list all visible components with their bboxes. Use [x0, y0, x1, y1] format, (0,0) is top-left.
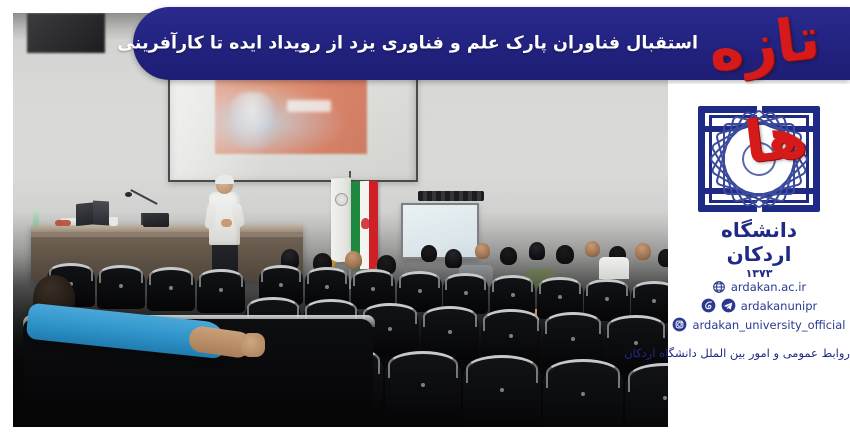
ceiling-soffit	[27, 13, 105, 53]
auditorium-seat	[543, 359, 623, 427]
contact-links: ardakan.ac.ir ardakanunipr	[668, 280, 850, 332]
audience-head	[500, 247, 517, 265]
contact-messengers[interactable]: ardakanunipr	[668, 298, 850, 313]
water-bottle	[33, 209, 39, 227]
instagram-value: ardakan_university_official	[692, 318, 845, 332]
audience-head	[475, 243, 490, 259]
wall-speaker	[418, 191, 484, 201]
institution-flag	[331, 177, 351, 262]
telegram-icon[interactable]	[721, 298, 736, 313]
contact-instagram[interactable]: ardakan_university_official	[668, 317, 850, 332]
iran-flag-emblem	[361, 218, 370, 229]
eitaa-icon[interactable]	[701, 298, 716, 313]
audience-head	[585, 241, 600, 257]
headline-text: استقبال فناوران پارک علم و فناوری یزد از…	[173, 31, 698, 56]
audience-head	[421, 245, 437, 262]
auditorium-seat	[197, 269, 245, 313]
audience-head	[529, 242, 545, 260]
projector-device	[143, 213, 169, 227]
whiteboard	[401, 203, 479, 259]
globe-icon	[712, 280, 726, 294]
university-founding-year: ۱۳۷۳	[695, 267, 823, 280]
institution-flag-seal	[335, 193, 348, 206]
paper-cup	[109, 217, 118, 226]
audience-head	[556, 245, 574, 264]
messenger-value: ardakanunipr	[741, 299, 818, 313]
news-card: استقبال فناوران پارک علم و فناوری یزد از…	[0, 0, 850, 448]
contact-website[interactable]: ardakan.ac.ir	[668, 280, 850, 294]
instagram-icon[interactable]	[672, 317, 687, 332]
department-label: روابط عمومی و امور بین الملل دانشگاه ارد…	[668, 346, 850, 360]
foreground-person-hand	[241, 333, 265, 357]
website-value: ardakan.ac.ir	[731, 280, 806, 294]
speaker-hair	[215, 175, 234, 184]
red-folder	[55, 220, 71, 226]
auditorium-seat	[97, 265, 145, 309]
speaker-hands	[221, 219, 232, 227]
microphone-icon	[125, 192, 132, 197]
microphone-boom	[130, 189, 157, 205]
slide-text-block	[287, 100, 331, 112]
university-name: دانشگاه اردکان	[695, 218, 823, 266]
auditorium-seat	[625, 363, 668, 427]
audience-head	[658, 249, 668, 267]
audience-head	[445, 249, 462, 268]
audience-head	[635, 243, 651, 260]
auditorium-seat	[147, 267, 195, 311]
auditorium-seat	[463, 355, 541, 427]
audience-torso	[599, 257, 629, 279]
laptop-two	[93, 200, 109, 225]
auditorium-seat	[385, 351, 461, 423]
audience-head	[345, 251, 362, 269]
